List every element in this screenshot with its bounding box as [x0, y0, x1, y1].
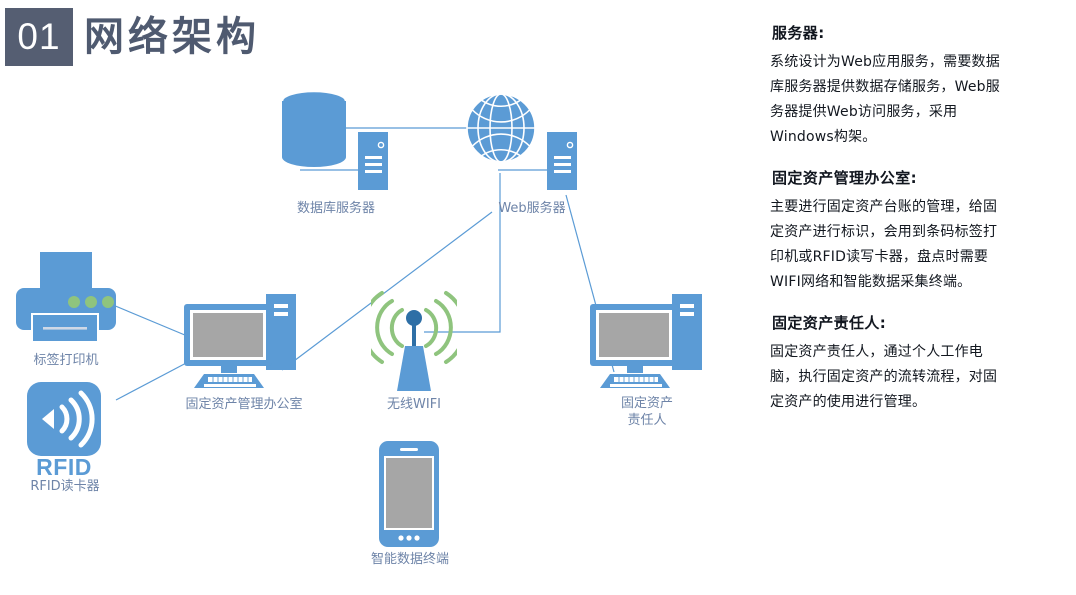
description-panel: 服务器: 系统设计为Web应用服务，需要数据库服务器提供数据存储服务，Web服务… [770, 22, 1010, 415]
svg-text:RFID: RFID [36, 454, 92, 478]
section-number-badge: 01 [5, 8, 73, 66]
node-web-server[interactable] [463, 85, 583, 195]
node-asset-office-pc[interactable] [182, 288, 300, 390]
node-rfid-reader[interactable]: RFID [24, 382, 106, 478]
section-body: 主要进行固定资产台账的管理，给固定资产进行标识，会用到条码标签打印机或RFID读… [770, 195, 1010, 295]
database-cylinder-server-icon [278, 85, 396, 195]
node-wireless-wifi[interactable] [371, 288, 457, 392]
node-label-printer[interactable] [12, 250, 120, 350]
rfid-icon: RFID [24, 382, 106, 478]
section-body: 固定资产责任人，通过个人工作电脑，执行固定资产的流转流程，对固定资产的使用进行管… [770, 340, 1010, 415]
node-smart-terminal[interactable] [378, 440, 440, 548]
desktop-computer-icon [182, 288, 300, 390]
section-asset-management-office: 固定资产管理办公室: 主要进行固定资产台账的管理，给固定资产进行标识，会用到条码… [770, 167, 1010, 295]
node-label-rfid-reader: RFID读卡器 [0, 478, 130, 495]
node-label-web-server: Web服务器 [452, 200, 612, 217]
page-title: 网络架构 [84, 10, 260, 64]
section-heading: 固定资产责任人: [772, 312, 1010, 333]
smartphone-icon [378, 440, 440, 548]
printer-icon [12, 250, 120, 350]
link-rfid-to-office-pc [116, 361, 190, 400]
section-body: 系统设计为Web应用服务，需要数据库服务器提供数据存储服务，Web服务器提供We… [770, 50, 1010, 150]
node-label-label-printer: 标签打印机 [6, 352, 126, 369]
node-asset-owner-pc[interactable] [588, 288, 706, 390]
globe-server-icon [463, 85, 583, 195]
section-server: 服务器: 系统设计为Web应用服务，需要数据库服务器提供数据存储服务，Web服务… [770, 22, 1010, 150]
node-label-smart-terminal: 智能数据终端 [345, 551, 475, 568]
link-printer-to-office-pc [113, 305, 192, 338]
section-heading: 固定资产管理办公室: [772, 167, 1010, 188]
antenna-wifi-icon [371, 288, 457, 392]
node-database-server[interactable] [278, 85, 396, 195]
node-label-database-server: 数据库服务器 [256, 200, 416, 217]
node-label-wireless-wifi: 无线WIFI [352, 396, 476, 413]
desktop-computer-icon [588, 288, 706, 390]
slide-canvas: 01 网络架构 [0, 0, 1076, 595]
network-architecture-diagram: 数据库服务器 [0, 70, 760, 595]
section-asset-owner: 固定资产责任人: 固定资产责任人，通过个人工作电脑，执行固定资产的流转流程，对固… [770, 312, 1010, 415]
section-heading: 服务器: [772, 22, 1010, 43]
node-label-asset-office-pc: 固定资产管理办公室 [160, 396, 328, 413]
node-label-asset-owner-pc: 固定资产 责任人 [587, 395, 707, 429]
